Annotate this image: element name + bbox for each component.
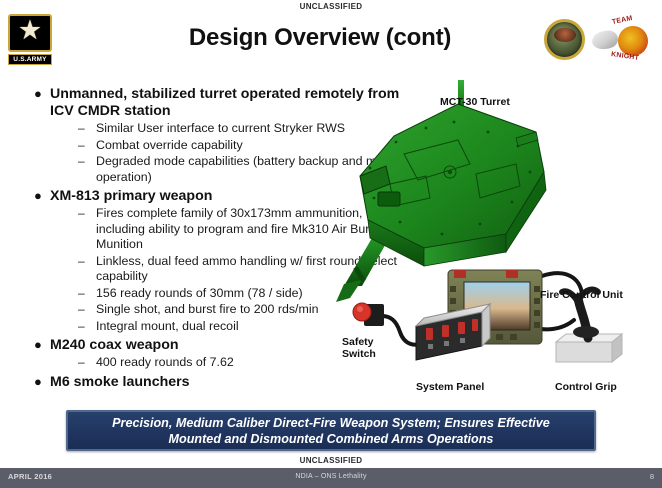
bullet-marker: ● [30,337,50,354]
star-glyph: ★ [16,17,44,44]
sub-bullet-marker: – [78,154,96,185]
us-army-logo: ★ U.S.ARMY [8,14,60,66]
sub-bullet-marker: – [78,121,96,137]
slide-footer: APRIL 2016 NDIA – ONS Lethality 8 [0,468,662,488]
system-panel-icon [416,304,490,360]
label-turret: MCT-30 Turret [440,96,510,108]
army-logo-label: U.S.ARMY [8,54,52,65]
footer-page-number: 8 [650,472,654,481]
classification-marking-bottom: UNCLASSIFIED [0,456,662,465]
army-star-icon: ★ [8,14,52,52]
summary-banner: Precision, Medium Caliber Direct-Fire We… [66,410,596,451]
bullet-marker: ● [30,374,50,391]
bullet-marker: ● [30,86,50,120]
sub-bullet-marker: – [78,206,96,253]
sub-bullet-marker: – [78,319,96,335]
team-knight-logo-icon: TEAM KNIGHT [590,17,652,63]
knight-horse-icon [591,29,619,50]
label-safety-switch: Safety Switch [342,336,388,360]
system-diagram: MCT-30 Turret Fire Control Unit System P… [330,80,662,400]
label-fire-control-unit: Fire Control Unit [540,289,623,301]
footer-center-text: NDIA – ONS Lethality [0,473,662,480]
slide: UNCLASSIFIED ★ U.S.ARMY TEAM KNIGHT Desi… [0,0,662,488]
team-knight-top-text: TEAM [611,15,633,26]
sub-bullet-marker: – [78,286,96,302]
classification-marking-top: UNCLASSIFIED [0,2,662,11]
banner-line-1: Precision, Medium Caliber Direct-Fire We… [112,416,550,430]
safety-switch-icon [353,303,384,326]
program-logos: TEAM KNIGHT [532,17,654,63]
page-title: Design Overview (cont) [120,24,520,52]
label-control-grip: Control Grip [555,381,617,393]
sub-bullet-marker: – [78,355,96,371]
sub-bullet-marker: – [78,302,96,318]
banner-line-2: Mounted and Dismounted Combined Arms Ope… [169,432,494,446]
label-system-panel: System Panel [416,381,484,393]
program-seal-icon [544,19,585,60]
turret-body-icon [360,104,546,266]
sub-bullet-marker: – [78,138,96,154]
bullet-marker: ● [30,188,50,205]
sub-bullet-marker: – [78,254,96,285]
